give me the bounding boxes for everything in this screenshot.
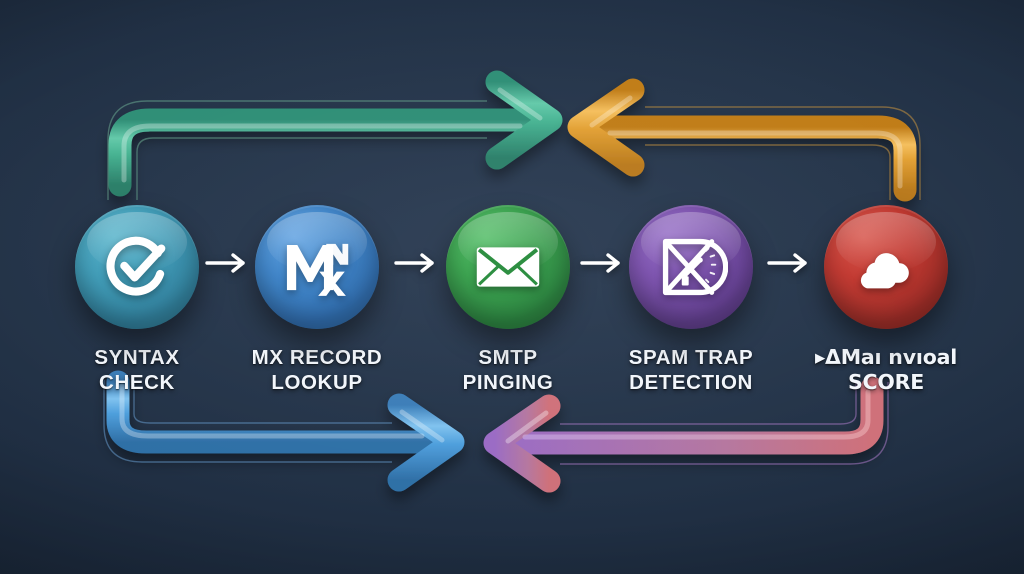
step-node-score[interactable]: ▸ΔMaı nvıoal SCORE	[766, 205, 1006, 395]
arrow-right-icon	[578, 248, 624, 278]
connector-chevron-1	[203, 248, 249, 278]
check-circle-icon	[100, 230, 174, 304]
spam-trap-detection-disc[interactable]	[629, 205, 753, 329]
arrow-right-icon	[392, 248, 438, 278]
smtp-pinging-disc[interactable]	[446, 205, 570, 329]
diagram-canvas: SYNTAX CHECK MX RECORD LOOKUP SMTP PINGI…	[0, 0, 1024, 574]
bottom-left-arrow	[118, 382, 453, 480]
mx-record-lookup-disc[interactable]	[255, 205, 379, 329]
connector-chevron-2	[392, 248, 438, 278]
connector-chevron-4	[765, 248, 811, 278]
arrow-right-icon	[203, 248, 249, 278]
top-left-arrow	[120, 82, 551, 185]
cloud-icon	[849, 230, 923, 304]
envelope-icon	[471, 230, 545, 304]
connector-chevron-3	[578, 248, 624, 278]
arrow-right-icon	[765, 248, 811, 278]
crossed-gauge-icon	[654, 230, 728, 304]
mx-letter-icon	[280, 230, 354, 304]
step-label-score: ▸ΔMaı nvıoal SCORE	[766, 345, 1006, 395]
top-right-arrow	[579, 90, 905, 190]
score-disc[interactable]	[824, 205, 948, 329]
bottom-right-arrow	[495, 388, 872, 481]
syntax-check-disc[interactable]	[75, 205, 199, 329]
